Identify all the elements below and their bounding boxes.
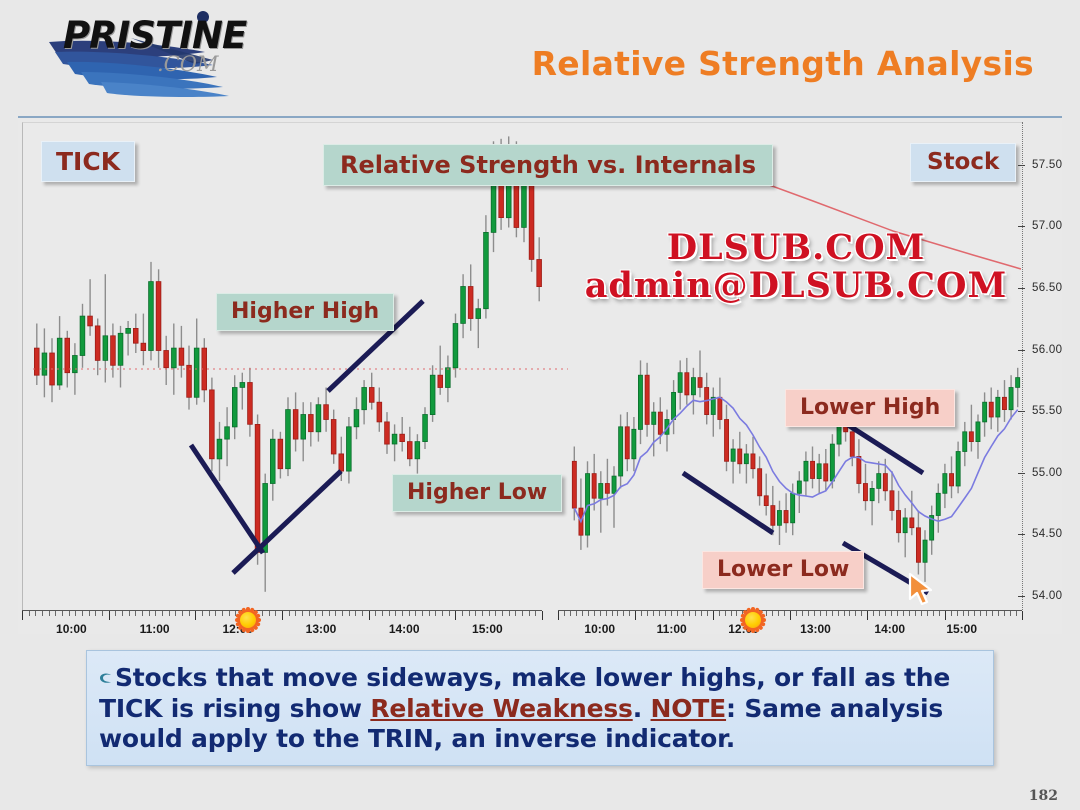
time-tick [395, 611, 396, 616]
time-tick [778, 611, 779, 616]
time-tick [469, 611, 470, 616]
time-tick [796, 611, 797, 616]
sun-core [745, 612, 761, 628]
time-tick [149, 611, 150, 616]
time-tick [855, 611, 856, 616]
time-tick [75, 611, 76, 616]
time-tick [992, 611, 993, 616]
time-tick [945, 611, 946, 620]
time-axis-right: 10:0011:0012:0013:0014:0015:00 [558, 610, 1022, 641]
time-tick [844, 611, 845, 616]
time-tick [903, 611, 904, 616]
time-tick [209, 611, 210, 616]
time-tick [349, 611, 350, 616]
price-tick-mark [1018, 411, 1025, 412]
price-tick-label: 55.00 [1032, 467, 1062, 479]
time-tick [275, 611, 276, 616]
price-axis: 57.5057.0056.5056.0055.5055.0054.5054.00 [1022, 122, 1062, 610]
price-tick-mark [1018, 534, 1025, 535]
time-tick [725, 611, 726, 616]
sun-marker-icon [235, 607, 261, 633]
caption-box: Stocks that move sideways, make lower hi… [86, 650, 994, 766]
time-tick [832, 611, 833, 616]
time-tick [42, 611, 43, 616]
time-tick [315, 611, 316, 616]
time-tick [482, 611, 483, 616]
time-tick [600, 611, 601, 616]
time-axis-label: 15:00 [472, 622, 503, 636]
time-tick [529, 611, 530, 616]
caption-emphasis-1: Relative Weakness [370, 694, 632, 723]
time-tick [49, 611, 50, 616]
time-tick [1022, 611, 1023, 620]
time-tick [449, 611, 450, 616]
time-tick [802, 611, 803, 616]
price-tick-mark [1018, 350, 1025, 351]
chart-plot-area: TICK Relative Strength vs. Internals Sto… [22, 122, 1023, 611]
time-tick [873, 611, 874, 616]
time-tick [731, 611, 732, 616]
panel-label-stock: Stock [910, 143, 1016, 182]
pristine-logo: PRISTINE .COM [45, 8, 275, 98]
time-tick [582, 611, 583, 616]
time-tick [429, 611, 430, 616]
time-tick [784, 611, 785, 616]
time-tick [909, 611, 910, 616]
time-tick [535, 611, 536, 616]
time-tick [215, 611, 216, 616]
chart-frame: TICK Relative Strength vs. Internals Sto… [18, 116, 1062, 634]
time-tick [335, 611, 336, 616]
time-tick [927, 611, 928, 616]
time-tick [986, 611, 987, 616]
time-axis-left: 10:0011:0012:0013:0014:0015:00 [22, 610, 542, 641]
price-tick-label: 57.50 [1032, 159, 1062, 171]
time-tick [558, 611, 559, 620]
time-tick [435, 611, 436, 616]
bullet-icon [99, 661, 113, 672]
time-tick [489, 611, 490, 616]
time-tick [677, 611, 678, 616]
time-tick [653, 611, 654, 616]
time-tick [766, 611, 767, 616]
time-tick [635, 611, 636, 620]
mouse-cursor-icon [908, 573, 938, 607]
page-number: 182 [1029, 788, 1058, 804]
time-tick [169, 611, 170, 616]
time-tick [455, 611, 456, 620]
time-tick [963, 611, 964, 616]
caption-part-2: . [633, 694, 651, 723]
annotation-lower-high: Lower High [785, 389, 955, 427]
watermark: DLSUB.COM admin@DLSUB.COM [561, 229, 1031, 305]
time-tick [202, 611, 203, 616]
time-tick [442, 611, 443, 616]
time-tick [861, 611, 862, 616]
time-tick [369, 611, 370, 620]
time-tick [707, 611, 708, 616]
time-tick [289, 611, 290, 616]
price-tick-mark [1018, 165, 1025, 166]
time-tick [135, 611, 136, 616]
time-tick [302, 611, 303, 616]
time-axis-label: 14:00 [389, 622, 420, 636]
time-tick [82, 611, 83, 616]
time-tick [820, 611, 821, 616]
time-tick [790, 611, 791, 620]
time-tick [182, 611, 183, 616]
sun-marker-icon [740, 607, 766, 633]
time-axis-label: 10:00 [584, 622, 615, 636]
panel-label-tick: TICK [41, 141, 135, 182]
time-tick [295, 611, 296, 616]
time-tick [879, 611, 880, 616]
time-tick [115, 611, 116, 616]
time-tick [867, 611, 868, 620]
page-header: PRISTINE .COM Relative Strength Analysis [0, 0, 1080, 110]
price-tick-label: 56.00 [1032, 344, 1062, 356]
time-tick [695, 611, 696, 616]
time-tick [689, 611, 690, 616]
time-tick [1010, 611, 1011, 616]
price-tick-label: 54.50 [1032, 528, 1062, 540]
time-tick [826, 611, 827, 616]
time-tick [629, 611, 630, 616]
time-tick [736, 611, 737, 616]
time-axis-label: 10:00 [56, 622, 87, 636]
time-tick [142, 611, 143, 616]
time-tick [772, 611, 773, 616]
time-tick [269, 611, 270, 616]
time-tick [69, 611, 70, 616]
time-tick [515, 611, 516, 616]
time-tick [891, 611, 892, 616]
annotation-higher-high: Higher High [216, 293, 394, 331]
time-tick [814, 611, 815, 616]
time-axis-label: 13:00 [306, 622, 337, 636]
time-axis-label: 15:00 [946, 622, 977, 636]
banner-relative-strength: Relative Strength vs. Internals [323, 144, 773, 186]
price-tick-label: 56.50 [1032, 282, 1062, 294]
time-tick [162, 611, 163, 616]
time-tick [329, 611, 330, 616]
chart-canvas [23, 123, 1023, 611]
time-tick [713, 611, 714, 620]
time-tick [409, 611, 410, 616]
time-tick [102, 611, 103, 616]
time-tick [665, 611, 666, 616]
time-tick [719, 611, 720, 616]
time-tick [641, 611, 642, 616]
time-tick [617, 611, 618, 616]
time-axis-label: 11:00 [140, 622, 170, 636]
price-tick-mark [1018, 226, 1025, 227]
time-tick [606, 611, 607, 616]
time-tick [933, 611, 934, 616]
time-axis-label: 13:00 [800, 622, 831, 636]
time-tick [309, 611, 310, 616]
time-tick [29, 611, 30, 616]
price-tick-label: 54.00 [1032, 590, 1062, 602]
time-tick [122, 611, 123, 616]
time-tick [915, 611, 916, 616]
page-title: Relative Strength Analysis [532, 44, 1034, 83]
time-tick [62, 611, 63, 616]
time-tick [623, 611, 624, 616]
time-tick [647, 611, 648, 616]
price-tick-mark [1018, 473, 1025, 474]
price-tick-label: 55.50 [1032, 405, 1062, 417]
time-tick [155, 611, 156, 616]
time-tick [95, 611, 96, 616]
time-tick [522, 611, 523, 616]
time-tick [195, 611, 196, 620]
time-tick [55, 611, 56, 616]
caption-emphasis-2: NOTE [651, 694, 727, 723]
time-tick [35, 611, 36, 616]
time-tick [189, 611, 190, 616]
time-tick [362, 611, 363, 616]
time-tick [462, 611, 463, 616]
time-tick [1004, 611, 1005, 616]
time-tick [612, 611, 613, 616]
time-tick [389, 611, 390, 616]
annotation-lower-low: Lower Low [702, 551, 864, 589]
time-tick [495, 611, 496, 616]
time-tick [921, 611, 922, 616]
time-tick [594, 611, 595, 616]
time-tick [885, 611, 886, 616]
time-tick [355, 611, 356, 616]
time-tick [262, 611, 263, 616]
watermark-line-1: DLSUB.COM [561, 229, 1031, 267]
logo-dotcom-text: .COM [157, 52, 218, 76]
time-tick [402, 611, 403, 616]
time-tick [1016, 611, 1017, 616]
time-tick [701, 611, 702, 616]
time-tick [542, 611, 543, 620]
time-tick [382, 611, 383, 616]
time-tick [415, 611, 416, 616]
time-tick [683, 611, 684, 616]
time-tick [564, 611, 565, 616]
time-tick [968, 611, 969, 616]
logo-wordmark: PRISTINE [63, 14, 246, 57]
time-tick [939, 611, 940, 616]
time-tick [897, 611, 898, 616]
time-tick [229, 611, 230, 616]
time-tick [974, 611, 975, 616]
time-tick [838, 611, 839, 616]
time-tick [422, 611, 423, 616]
time-tick [671, 611, 672, 616]
time-tick [175, 611, 176, 616]
time-tick [342, 611, 343, 616]
time-axis-label: 14:00 [874, 622, 905, 636]
time-tick [659, 611, 660, 616]
annotation-higher-low: Higher Low [392, 474, 562, 512]
time-tick [588, 611, 589, 616]
watermark-line-2: admin@DLSUB.COM [561, 267, 1031, 305]
time-tick [957, 611, 958, 616]
time-tick [109, 611, 110, 620]
time-tick [282, 611, 283, 620]
price-axis-line [1022, 122, 1023, 610]
time-tick [129, 611, 130, 616]
time-tick [849, 611, 850, 616]
time-tick [951, 611, 952, 616]
time-tick [808, 611, 809, 616]
price-tick-mark [1018, 288, 1025, 289]
time-tick [222, 611, 223, 616]
time-tick [22, 611, 23, 620]
caption-text: Stocks that move sideways, make lower hi… [99, 661, 979, 755]
time-tick [980, 611, 981, 616]
time-tick [502, 611, 503, 616]
time-tick [89, 611, 90, 616]
price-tick-label: 57.00 [1032, 220, 1062, 232]
time-tick-row [22, 611, 542, 619]
time-tick [475, 611, 476, 616]
time-axis-label: 11:00 [657, 622, 687, 636]
time-tick [375, 611, 376, 616]
time-tick [322, 611, 323, 616]
time-tick [570, 611, 571, 616]
price-tick-mark [1018, 596, 1025, 597]
time-tick [576, 611, 577, 616]
time-tick [998, 611, 999, 616]
time-tick [509, 611, 510, 616]
time-tick-row [558, 611, 1022, 619]
